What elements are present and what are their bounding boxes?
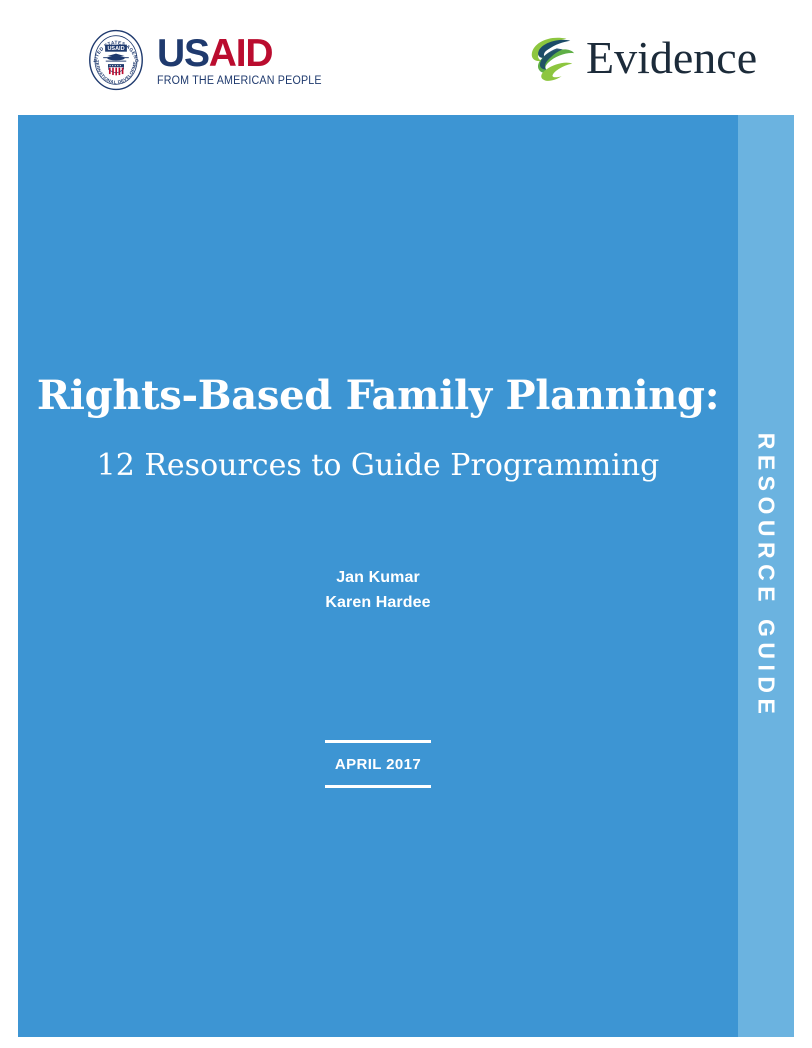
author-name: Karen Hardee	[18, 590, 738, 615]
author-list: Jan Kumar Karen Hardee	[18, 565, 738, 615]
usaid-wordmark-us: US	[157, 32, 209, 75]
cover-panel: Rights-Based Family Planning: 12 Resourc…	[18, 115, 794, 1037]
cover-title-area: Rights-Based Family Planning: 12 Resourc…	[18, 115, 738, 1037]
page-title: Rights-Based Family Planning:	[18, 373, 738, 419]
usaid-wordmark-group: USAID FROM THE AMERICAN PEOPLE	[157, 33, 334, 87]
date-rule-bottom	[325, 785, 431, 788]
publication-date-block: APRIL 2017	[325, 740, 431, 788]
evidence-globe-icon	[528, 32, 578, 84]
header-logo-band: UNITED STATES AGENCY INTERNATIONAL DEVEL…	[0, 0, 812, 115]
usaid-tagline: FROM THE AMERICAN PEOPLE	[157, 75, 322, 87]
page-subtitle: 12 Resources to Guide Programming	[18, 448, 738, 484]
usaid-wordmark: USAID	[157, 35, 334, 73]
usaid-wordmark-aid: AID	[209, 32, 273, 75]
publication-date: APRIL 2017	[325, 743, 431, 785]
evidence-wordmark: Evidence	[586, 35, 757, 81]
author-name: Jan Kumar	[18, 565, 738, 590]
usaid-logo-lockup: UNITED STATES AGENCY INTERNATIONAL DEVEL…	[84, 28, 334, 92]
evidence-logo-lockup: Evidence	[528, 32, 757, 84]
svg-text:USAID: USAID	[107, 46, 124, 52]
usaid-seal-icon: UNITED STATES AGENCY INTERNATIONAL DEVEL…	[84, 28, 148, 92]
sidebar-label: RESOURCE GUIDE	[753, 433, 780, 720]
resource-guide-sidebar: RESOURCE GUIDE	[738, 115, 794, 1037]
